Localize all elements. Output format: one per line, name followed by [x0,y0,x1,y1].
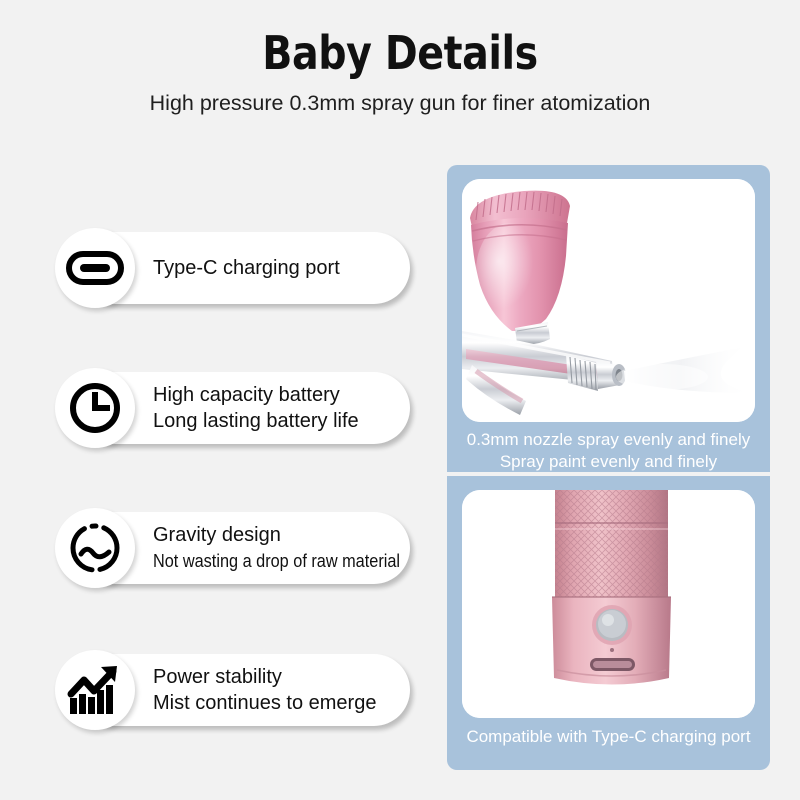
feature-item-gravity[interactable]: Gravity design Not wasting a drop of raw… [55,508,410,588]
feature-item-type-c[interactable]: Type-C charging port [55,228,410,308]
gravity-wave-icon [55,508,135,588]
feature-label-secondary: Long lasting battery life [153,408,411,434]
feature-list: Type-C charging port High capacity batte… [0,150,430,790]
feature-label-primary: Gravity design [153,522,411,548]
panel-caption-line-2: Spray paint evenly and finely [447,451,770,473]
page-title: Baby Details [56,25,744,81]
feature-label-primary: Power stability [153,664,411,690]
header: Baby Details High pressure 0.3mm spray g… [0,0,800,130]
panel-caption: Compatible with Type-C charging port [447,726,770,748]
page-subtitle: High pressure 0.3mm spray gun for finer … [0,89,800,117]
feature-text: Gravity design Not wasting a drop of raw… [153,508,411,588]
product-panel-nozzle: 0.3mm nozzle spray evenly and finely Spr… [447,165,770,472]
clock-icon [55,368,135,448]
feature-item-battery[interactable]: High capacity battery Long lasting batte… [55,368,410,448]
airbrush-body-usb-c-port-photo [462,490,755,718]
feature-text: Type-C charging port [153,228,411,308]
product-panel-charging-port: Compatible with Type-C charging port [447,476,770,770]
panel-caption-line-1: Compatible with Type-C charging port [447,726,770,748]
infographic-page: Baby Details High pressure 0.3mm spray g… [0,0,800,800]
feature-text: Power stability Mist continues to emerge [153,650,411,730]
growth-chart-icon [55,650,135,730]
feature-text: High capacity battery Long lasting batte… [153,368,411,448]
feature-label-primary: High capacity battery [153,382,411,408]
feature-label-secondary: Not wasting a drop of raw material [153,548,380,574]
usb-c-port-icon [55,228,135,308]
feature-label-primary: Type-C charging port [153,255,411,281]
panel-caption: 0.3mm nozzle spray evenly and finely Spr… [447,429,770,473]
panel-caption-line-1: 0.3mm nozzle spray evenly and finely [447,429,770,451]
feature-label-secondary: Mist continues to emerge [153,690,411,716]
feature-item-power-stability[interactable]: Power stability Mist continues to emerge [55,650,410,730]
airbrush-nozzle-spray-photo [462,179,755,422]
